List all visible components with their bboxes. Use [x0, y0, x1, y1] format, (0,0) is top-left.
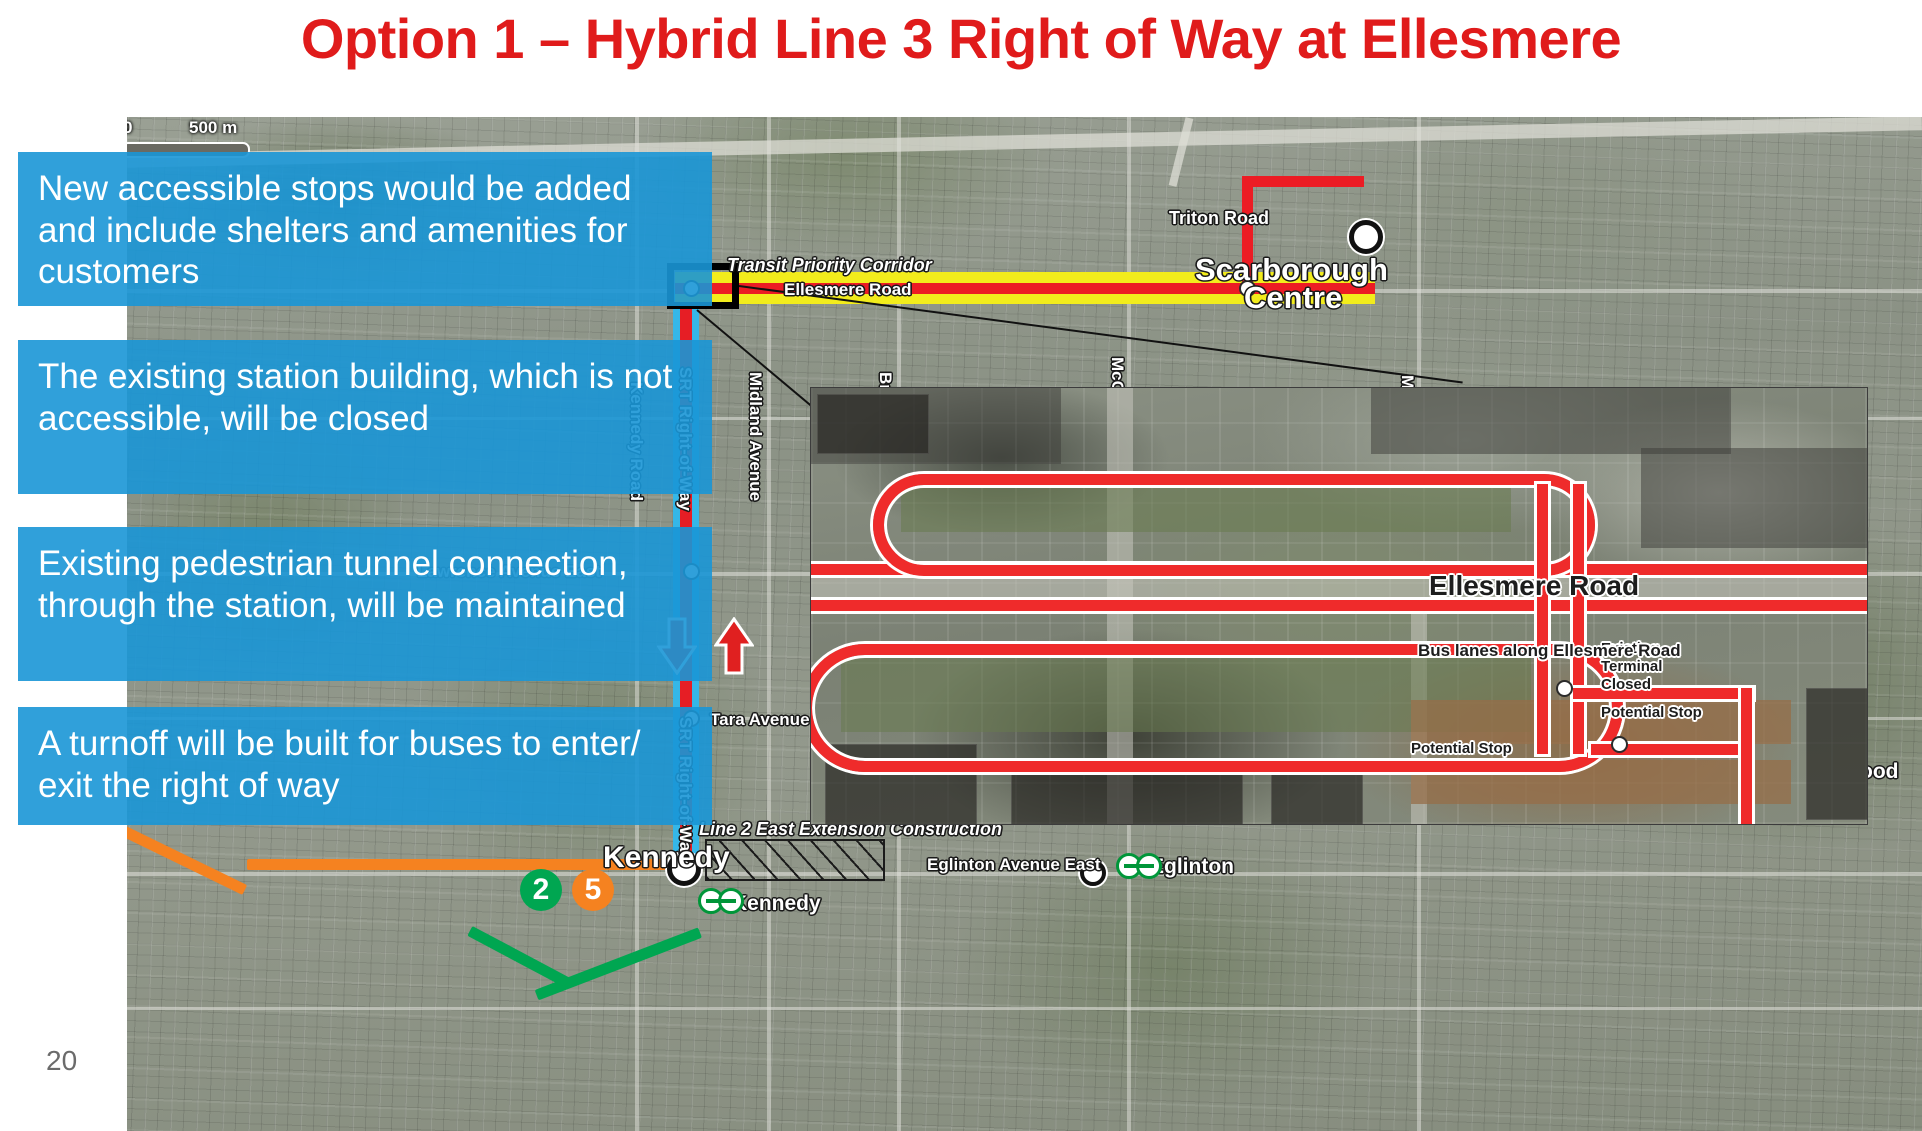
inset-parking-lot-e [1641, 448, 1868, 548]
callout-text: New accessible stops would be added and … [38, 169, 631, 291]
callout-pedestrian-tunnel: Existing pedestrian tunnel connection, t… [18, 527, 712, 681]
scarborough-centre-link-vertical [1242, 176, 1253, 291]
station-marker-scarborough-centre[interactable] [1349, 220, 1383, 254]
inset-building-s1 [1011, 764, 1243, 825]
inset-bus-lane-westbound [811, 600, 1868, 611]
callout-text: Existing pedestrian tunnel connection, t… [38, 544, 628, 625]
line-badge-5[interactable]: 5 [572, 869, 614, 911]
page-number: 20 [46, 1045, 77, 1077]
road-minor-3 [127, 1007, 1922, 1010]
go-logo-bar [1124, 864, 1154, 868]
inset-detail-map[interactable]: Existing Terminal Closed Potential Stop … [810, 387, 1868, 825]
callout-bus-turnoff: A turnoff will be built for buses to ent… [18, 707, 712, 825]
go-logo-bar [706, 899, 736, 903]
stop-dot-ellesmere-east[interactable] [1239, 280, 1256, 297]
inset-building-nw [817, 394, 929, 454]
go-transit-logo-eglinton [1116, 853, 1164, 879]
callout-accessible-stops: New accessible stops would be added and … [18, 152, 712, 306]
line-badge-2[interactable]: 2 [520, 869, 562, 911]
callout-text: A turnoff will be built for buses to ent… [38, 724, 640, 805]
inset-bus-loop-south [810, 644, 1623, 772]
road-eglinton-base [127, 872, 1922, 876]
station-marker-eglinton[interactable] [1080, 860, 1106, 886]
line-5-segment-horizontal [247, 859, 682, 870]
scale-min-label: 0 [127, 118, 132, 138]
callout-station-building-closed: The existing station building, which is … [18, 340, 712, 494]
inset-terminal-connector-1 [1537, 484, 1548, 754]
direction-arrow-northbound [714, 617, 754, 675]
scarborough-centre-link-horizontal [1242, 176, 1364, 187]
inset-stop-dot-lower[interactable] [1611, 736, 1628, 753]
line-2-east-extension-construction-area [705, 839, 885, 881]
inset-stop-spur [1573, 688, 1753, 699]
inset-parking-lot-ne [1371, 388, 1731, 454]
inset-building-e [1806, 688, 1868, 820]
callout-text: The existing station building, which is … [38, 357, 672, 438]
station-marker-kennedy[interactable] [667, 852, 701, 886]
go-transit-logo-kennedy [698, 888, 746, 914]
inset-stop-dot-upper[interactable] [1556, 680, 1573, 697]
inset-label-existing: Existing [1601, 640, 1659, 657]
inset-south-exit [1741, 688, 1752, 825]
inset-bus-loop-north [873, 474, 1595, 576]
page-title: Option 1 – Hybrid Line 3 Right of Way at… [0, 8, 1922, 70]
scale-max-label: 500 m [189, 118, 237, 138]
road-midland-base [767, 117, 771, 1131]
inset-terminal-connector-2 [1573, 484, 1584, 754]
